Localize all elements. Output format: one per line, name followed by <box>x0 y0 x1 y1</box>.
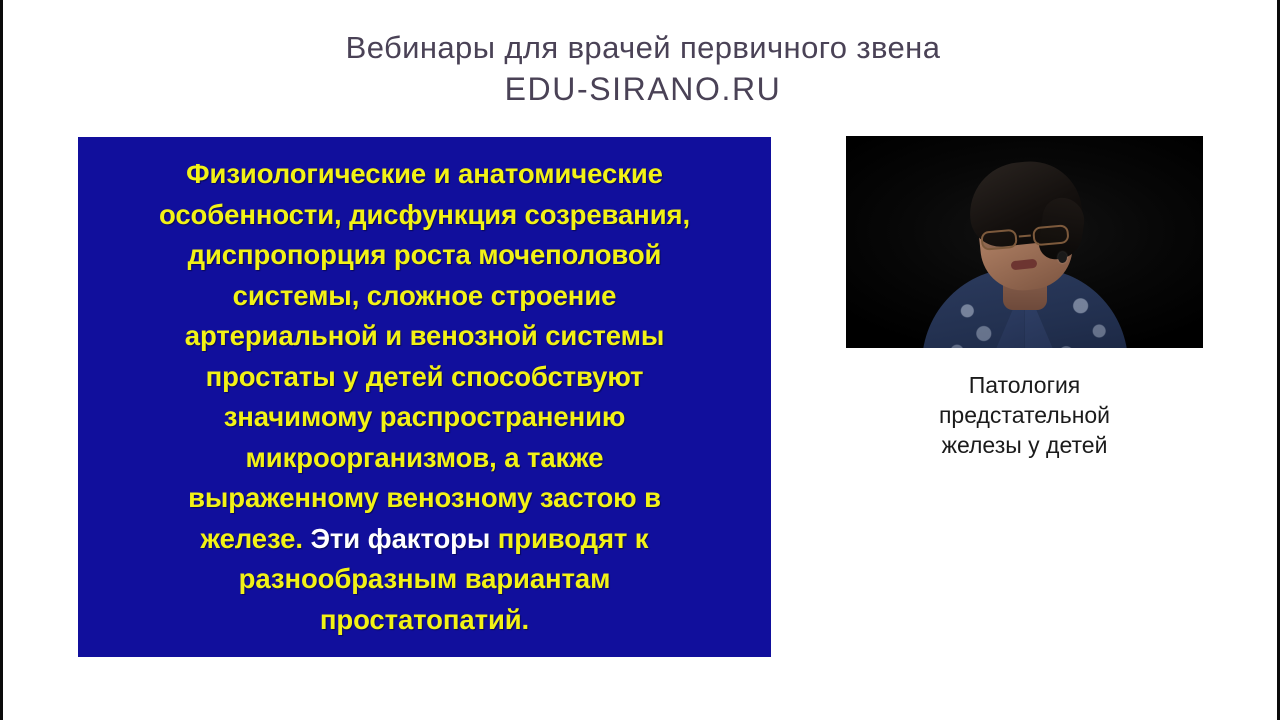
statement-text: железе. <box>201 523 311 554</box>
video-caption-line: железы у детей <box>846 430 1203 460</box>
statement-line: простатопатий. <box>112 600 737 641</box>
statement-line: особенности, дисфункция созревания, <box>112 195 737 236</box>
statement-panel: Физиологические и анатомическиеособеннос… <box>78 137 771 657</box>
video-caption-line: Патология <box>846 370 1203 400</box>
statement-line: микроорганизмов, а также <box>112 438 737 479</box>
video-caption: Патологияпредстательнойжелезы у детей <box>846 370 1203 460</box>
statement-line: простаты у детей способствуют <box>112 357 737 398</box>
presenter-video-block[interactable]: Патологияпредстательнойжелезы у детей <box>846 136 1203 460</box>
header-site-url: EDU-SIRANO.RU <box>3 69 1280 109</box>
statement-line: значимому распространению <box>112 397 737 438</box>
statement-line: Физиологические и анатомические <box>112 154 737 195</box>
header-title: Вебинары для врачей первичного звена <box>3 28 1280 68</box>
statement-highlight: Эти факторы <box>310 523 490 554</box>
statement-line: системы, сложное строение <box>112 276 737 317</box>
eyeglass-bridge <box>1018 234 1030 237</box>
slide-root: Вебинары для врачей первичного звена EDU… <box>0 0 1280 720</box>
statement-line: выраженному венозному застою в <box>112 478 737 519</box>
slide-header: Вебинары для врачей первичного звена EDU… <box>3 28 1280 109</box>
statement-line: диспропорция роста мочеполовой <box>112 235 737 276</box>
presenter-earring <box>1058 252 1067 263</box>
statement-text-block: Физиологические и анатомическиеособеннос… <box>112 154 737 640</box>
presenter-video-thumbnail[interactable] <box>846 136 1203 348</box>
statement-line: артериальной и венозной системы <box>112 316 737 357</box>
statement-text: приводят к <box>490 523 648 554</box>
statement-line: разнообразным вариантам <box>112 559 737 600</box>
video-caption-line: предстательной <box>846 400 1203 430</box>
eyeglass-lens-left <box>980 229 1018 251</box>
eyeglass-lens-right <box>1032 224 1070 246</box>
statement-line: железе. Эти факторы приводят к <box>112 519 737 560</box>
